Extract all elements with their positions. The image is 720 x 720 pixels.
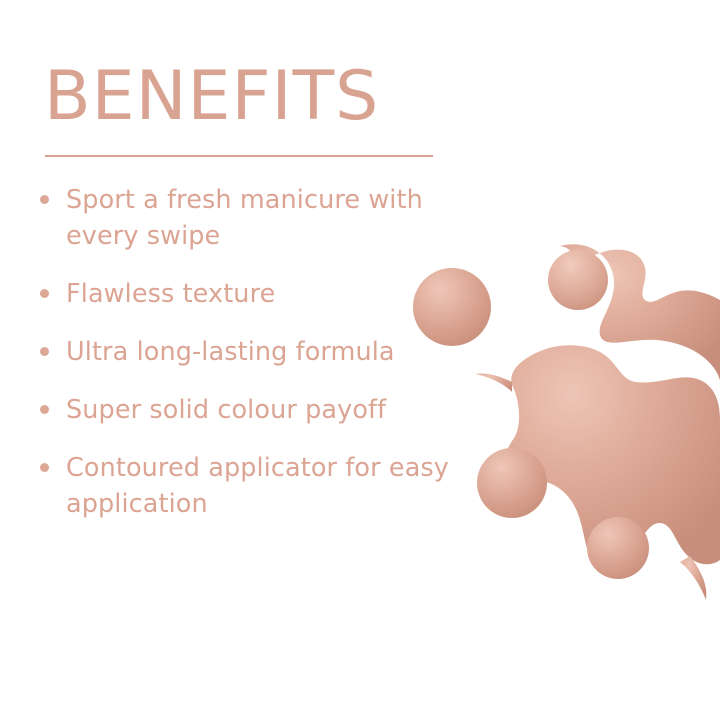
polish-droplet-small: [587, 517, 649, 579]
splash-body: [476, 244, 720, 600]
bullet-icon: [40, 463, 49, 472]
page-title: BENEFITS: [44, 62, 379, 132]
list-item-label: Sport a fresh manicure with every swipe: [66, 182, 496, 254]
list-item-label: Flawless texture: [66, 276, 275, 312]
bullet-icon: [40, 289, 49, 298]
benefits-card: BENEFITS Sport a fresh manicure with eve…: [0, 0, 720, 720]
list-item: Sport a fresh manicure with every swipe: [40, 182, 510, 254]
bullet-icon: [40, 347, 49, 356]
list-item-label: Ultra long-lasting formula: [66, 334, 395, 370]
list-item-label: Super solid colour payoff: [66, 392, 386, 428]
list-item: Flawless texture: [40, 276, 510, 312]
bullet-icon: [40, 195, 49, 204]
benefits-list: Sport a fresh manicure with every swipe …: [40, 182, 510, 544]
title-divider: [45, 155, 433, 157]
list-item: Ultra long-lasting formula: [40, 334, 510, 370]
polish-droplet-tiny: [548, 250, 608, 310]
list-item: Contoured applicator for easy applicatio…: [40, 450, 510, 522]
list-item-label: Contoured applicator for easy applicatio…: [66, 450, 496, 522]
bullet-icon: [40, 405, 49, 414]
list-item: Super solid colour payoff: [40, 392, 510, 428]
